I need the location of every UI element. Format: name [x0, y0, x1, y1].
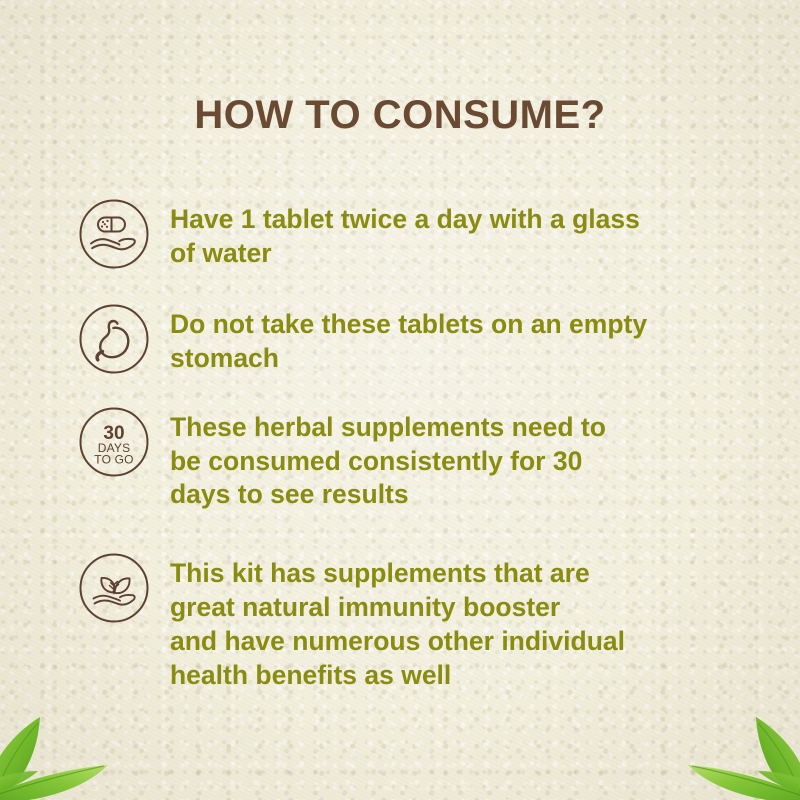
list-item-text: This kit has supplements that are great … [170, 552, 750, 693]
how-to-consume-infographic: HOW TO CONSUME? [0, 0, 800, 800]
list-item: Do not take these tablets on an empty st… [0, 303, 800, 376]
list-item: Have 1 tablet twice a day with a glass o… [0, 198, 800, 271]
thirty-days-to-go-icon: 30 DAYS TO GO [78, 406, 150, 478]
page-title: HOW TO CONSUME? [0, 95, 800, 135]
list-item-text: Have 1 tablet twice a day with a glass o… [170, 198, 750, 271]
list-item: 30 DAYS TO GO These herbal supplements n… [0, 406, 800, 513]
leaf-cluster-icon [604, 681, 800, 800]
badge-line-3: TO GO [94, 452, 133, 466]
hand-holding-pill-icon [78, 198, 150, 270]
stomach-icon [78, 303, 150, 375]
hand-holding-leaves-icon [78, 552, 150, 624]
list-item: This kit has supplements that are great … [0, 552, 800, 693]
instruction-list: Have 1 tablet twice a day with a glass o… [0, 198, 800, 693]
list-item-text: These herbal supplements need to be cons… [170, 406, 750, 513]
list-item-text: Do not take these tablets on an empty st… [170, 303, 750, 376]
leaf-cluster-icon [0, 681, 192, 800]
